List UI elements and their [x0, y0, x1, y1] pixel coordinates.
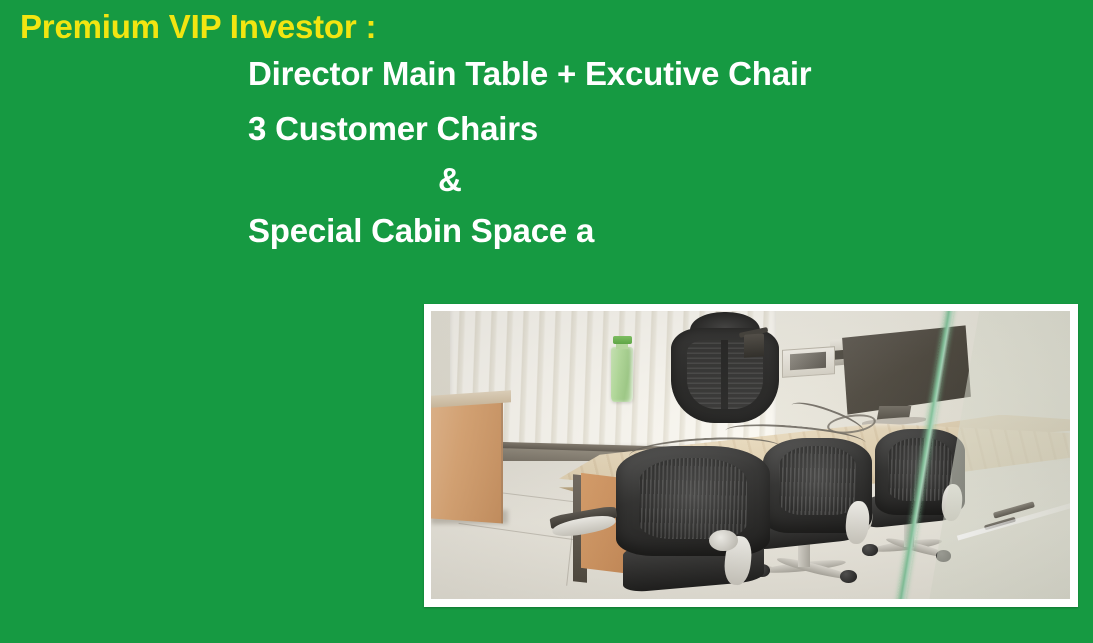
office-photo: [431, 311, 1070, 599]
customer-chair-3-caster: [862, 544, 877, 556]
customer-chair-1-adjust-knob: [709, 530, 738, 552]
desk-gadget: [744, 333, 764, 357]
side-cabinet: [431, 398, 503, 524]
page-title: Premium VIP Investor :: [20, 8, 376, 46]
customer-chair-2-caster: [840, 570, 857, 583]
water-bottle-cap: [613, 336, 632, 344]
description-line-2: 3 Customer Chairs: [248, 112, 1068, 145]
slide-canvas: Premium VIP Investor : Director Main Tab…: [0, 0, 1093, 643]
description-line-4: Special Cabin Space a: [248, 214, 1068, 247]
customer-chair-2-post: [798, 541, 810, 567]
description-line-ampersand: &: [438, 163, 1068, 196]
description-text-block: Director Main Table + Excutive Chair 3 C…: [248, 57, 1068, 247]
customer-chair-2-mesh: [779, 446, 856, 515]
water-bottle: [611, 347, 633, 402]
description-line-1: Director Main Table + Excutive Chair: [248, 57, 1068, 90]
office-photo-frame: [424, 304, 1078, 607]
customer-chair-1-mesh: [639, 458, 748, 539]
executive-chair-mesh-bar: [721, 340, 728, 409]
desk-photo-frame-image: [790, 351, 826, 370]
